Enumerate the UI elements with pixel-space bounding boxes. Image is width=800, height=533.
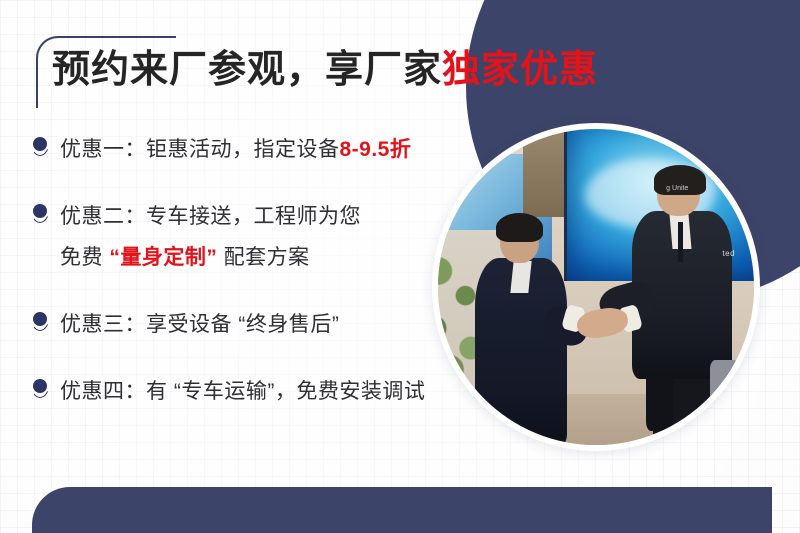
scene-door <box>523 129 564 217</box>
plain-text: 优惠一：钜惠活动，指定设备 <box>60 138 340 161</box>
list-item: 优惠一：钜惠活动，指定设备8-9.5折 <box>28 130 488 171</box>
list-item-line: 优惠二：专车接送，工程师为您 <box>60 197 361 238</box>
accent-text: “量身定制” <box>109 246 217 269</box>
list-item-line: 优惠四：有 “专车运输”，免费安装调试 <box>60 372 425 413</box>
plain-text: 免费 <box>60 246 109 269</box>
businessman-right <box>628 170 742 442</box>
plain-text: 优惠四：有 “专车运输”，免费安装调试 <box>60 380 425 403</box>
screen-text-center: g Unite <box>666 185 688 192</box>
accent-text: 8-9.5折 <box>340 138 412 161</box>
bullet-circle-icon <box>28 201 54 227</box>
right-duffel-bag <box>710 360 740 409</box>
left-shirt <box>510 261 531 293</box>
plain-text: 配套方案 <box>217 246 309 269</box>
page-title-accent: 独家优惠 <box>442 49 598 91</box>
list-item-label: 优惠四：有 “专车运输”，免费安装调试 <box>60 372 425 413</box>
plain-text: 优惠三：享受设备 “终身售后” <box>60 313 339 336</box>
benefits-list: 优惠一：钜惠活动，指定设备8-9.5折优惠二：专车接送，工程师为您免费 “量身定… <box>28 130 488 439</box>
bullet-arc <box>30 140 50 156</box>
bullet-arc <box>30 315 50 331</box>
list-item-line: 免费 “量身定制” 配套方案 <box>60 238 361 279</box>
right-handbag <box>646 377 673 431</box>
right-tie <box>678 222 684 263</box>
plain-text: 优惠二：专车接送，工程师为您 <box>60 205 361 228</box>
list-item-line: 优惠一：钜惠活动，指定设备8-9.5折 <box>60 130 411 171</box>
bullet-arc <box>30 382 50 398</box>
list-item-label: 优惠一：钜惠活动，指定设备8-9.5折 <box>60 130 411 171</box>
navy-bottom-bar <box>32 487 772 533</box>
list-item: 优惠二：专车接送，工程师为您免费 “量身定制” 配套方案 <box>28 197 488 279</box>
list-item-label: 优惠二：专车接送，工程师为您免费 “量身定制” 配套方案 <box>60 197 361 279</box>
list-item-line: 优惠三：享受设备 “终身售后” <box>60 305 339 346</box>
screen-text-right: ted <box>722 249 735 258</box>
page-title-prefix: 预约来厂参观，享厂家 <box>52 49 442 91</box>
bullet-circle-icon <box>28 309 54 335</box>
list-item-label: 优惠三：享受设备 “终身售后” <box>60 305 339 346</box>
page-title: 预约来厂参观，享厂家独家优惠 <box>52 48 598 94</box>
promo-banner: 预约来厂参观，享厂家独家优惠 优惠一：钜惠活动，指定设备8-9.5折优惠二：专车… <box>0 0 800 533</box>
list-item: 优惠三：享受设备 “终身售后” <box>28 305 488 346</box>
list-item: 优惠四：有 “专车运输”，免费安装调试 <box>28 372 488 413</box>
bullet-circle-icon <box>28 376 54 402</box>
bullet-circle-icon <box>28 134 54 160</box>
left-hair <box>496 213 543 243</box>
bullet-arc <box>30 207 50 223</box>
